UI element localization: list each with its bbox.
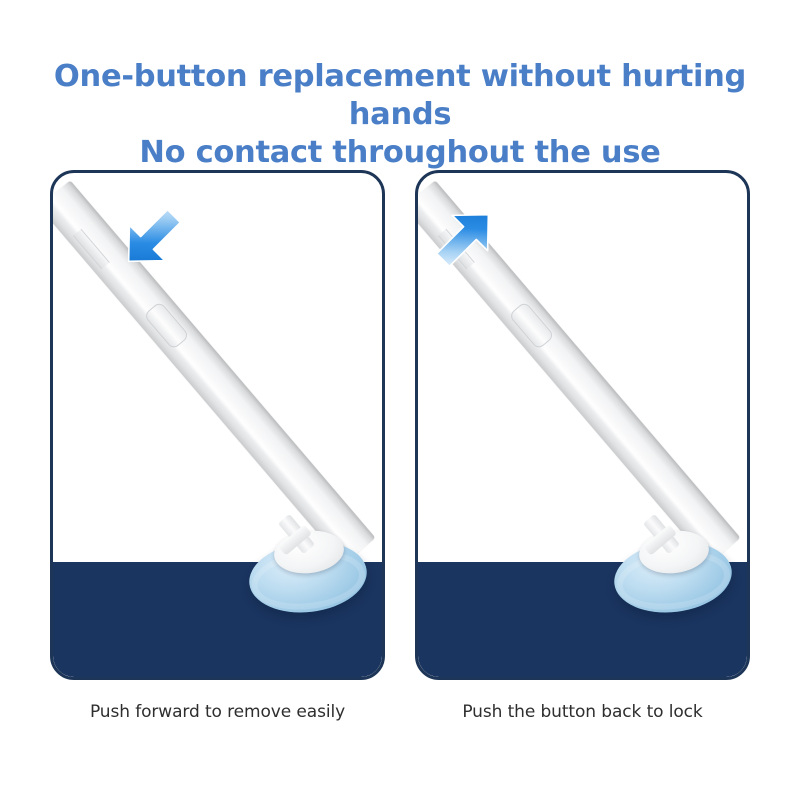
panel-remove [50,170,385,680]
mop-pole [53,180,375,564]
panel-remove-inner [53,173,382,677]
release-button[interactable] [508,301,555,350]
mop-pad-head [249,520,367,638]
arrow-down-right-icon [115,201,189,275]
caption-remove: Push forward to remove easily [50,702,385,722]
release-button[interactable] [143,301,190,350]
page-title: One-button replacement without hurting h… [0,58,800,172]
caption-lock: Push the button back to lock [415,702,750,722]
release-button-track [73,229,110,270]
arrow-up-left-icon [428,201,502,275]
headline-line-1: One-button replacement without hurting h… [0,58,800,134]
panel-lock [415,170,750,680]
panel-lock-inner [418,173,747,677]
headline-line-2: No contact throughout the use [0,134,800,172]
mop-pad-head [614,520,732,638]
